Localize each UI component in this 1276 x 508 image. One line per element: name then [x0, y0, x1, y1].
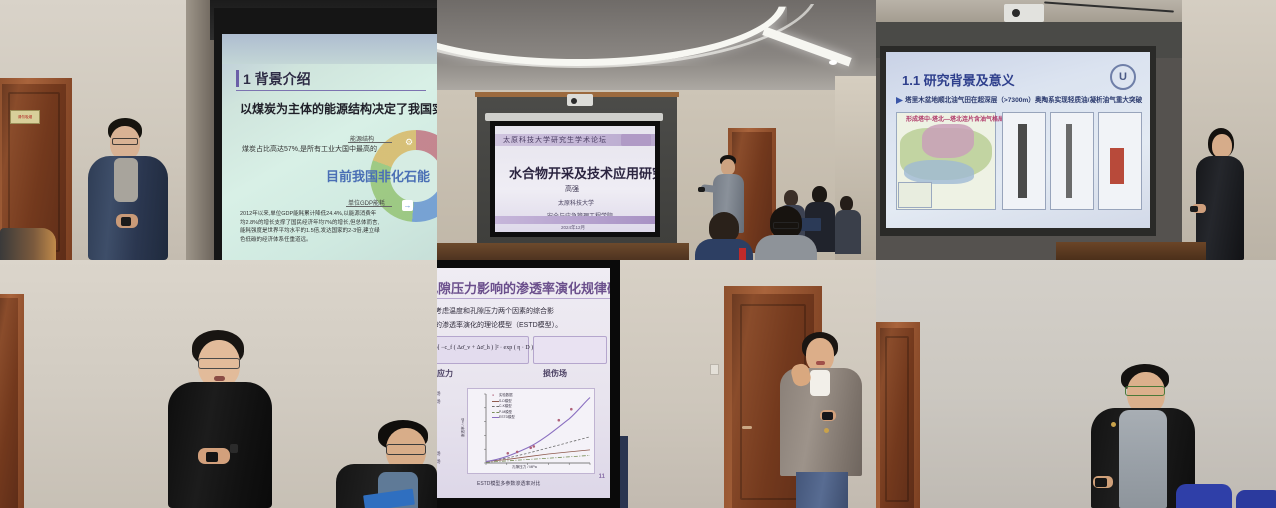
university-logo-letter: U [1119, 71, 1127, 83]
chart-legend: ●实验数据 S-D模型 C-K模型 P-M模型 ESTD模型 [492, 393, 515, 421]
door [0, 298, 18, 508]
formula-label-right: 损伤场 [543, 368, 567, 379]
projection-screen-research: 1.1 研究背景及意义 U 塔里木盆地顺北油气田在超深层（>7300m）奥陶系实… [886, 52, 1150, 228]
slide-heading-bar [236, 70, 239, 87]
torso [755, 235, 817, 260]
blue-chair-2 [1236, 490, 1276, 508]
door-sign-label: 请勿吸烟 [18, 115, 32, 119]
foreground-attendee-left [695, 212, 753, 260]
chart-ylabel: 渗透率 / mD [461, 418, 466, 437]
seated-attendee [336, 420, 437, 508]
door-handle [742, 426, 752, 429]
tag-left-4-label: 损伤场 [437, 459, 441, 465]
tag-left-3-label: 应力场 [437, 451, 441, 457]
legend-item: ESTD模型 [492, 415, 515, 421]
map-inset [898, 182, 932, 208]
legend-label: P-M模型 [499, 410, 512, 414]
slide-banner-logo [621, 134, 651, 146]
slide-line-2: 过程的渗透率演化的理论模型（ESTD模型）。 [437, 320, 562, 330]
screen-edge-right [610, 260, 620, 508]
clicker [206, 452, 218, 462]
projector-lens-icon [1012, 9, 1020, 17]
legend-label: 实验数据 [499, 393, 513, 397]
legend-swatch-solid [492, 401, 499, 402]
well-log-1-trace [1018, 124, 1027, 198]
formula-box-2 [533, 336, 607, 364]
foreground-objects [0, 228, 56, 260]
presenter-navy-jacket [88, 118, 168, 260]
projection-screen-title: 太原科技大学研究生学术论坛 水合物开采及技术应用研究 高强 太原科技大学 安全与… [495, 126, 655, 232]
slide-heading-rule [437, 298, 613, 299]
glasses [112, 138, 138, 145]
slide-line-1: 究，考虑温度和孔隙压力两个因素的综合影 [437, 306, 554, 316]
slide-heading: 孔隙压力影响的渗透率演化规律研究 [437, 278, 613, 297]
light-switch [710, 364, 719, 375]
legend-label: C-K模型 [499, 404, 512, 408]
screen-roller [485, 113, 663, 121]
clicker [822, 412, 833, 420]
clicker [1190, 206, 1198, 212]
foreground-attendee-right [755, 206, 817, 260]
attendee [835, 196, 861, 254]
legend-label: ESTD模型 [499, 415, 515, 419]
panel-presenter-background-intro: 请勿吸烟 1 背景介绍 ⚙ → 以煤炭为主体的能源结构决定了我国实 能源结构 [0, 0, 437, 260]
page-number: 11 [599, 474, 605, 480]
slide-banner-text: 太原科技大学研究生学术论坛 [503, 135, 607, 145]
white-shirt [810, 370, 830, 396]
panel-young-presenter-black-shirt [0, 260, 437, 508]
head [806, 338, 834, 372]
chart-xlabel: 孔隙压力 / MPa [512, 465, 537, 470]
ceiling-downlight [829, 60, 837, 65]
well-log-2 [1050, 112, 1094, 210]
conference-table [437, 243, 689, 260]
slide-author: 高强 [565, 184, 579, 194]
university-logo: U [1110, 64, 1136, 90]
well-log-3-trace [1110, 148, 1124, 184]
head [784, 190, 798, 206]
legend-swatch-estd [492, 417, 499, 418]
head [840, 196, 853, 211]
door-sign: 请勿吸烟 [10, 110, 40, 124]
presenter-black-shirt [160, 330, 280, 508]
legend-swatch-scatter: ● [492, 393, 499, 399]
export-icon: → [402, 200, 413, 211]
torso-black-shirt [168, 382, 272, 508]
wall [876, 260, 1276, 508]
tag-left-2-label: 渗流场 [437, 399, 441, 405]
slide-bullet: 塔里木盆地顺北油气田在超深层（>7300m）奥陶系实现轻质油/凝析油气重大突破 [905, 94, 1142, 104]
slide-highlight: 目前我国非化石能 [326, 166, 430, 185]
slide-heading-underline [236, 90, 426, 91]
podium [1056, 242, 1206, 260]
panel-lecture-hall-wide-shot: 太原科技大学研究生学术论坛 水合物开采及技术应用研究 高强 太原科技大学 安全与… [437, 0, 876, 260]
wristwatch [230, 444, 238, 453]
projection-screen: 1 背景介绍 ⚙ → 以煤炭为主体的能源结构决定了我国实 能源结构 煤炭占比高达… [222, 34, 437, 260]
head [709, 212, 739, 242]
slide-top-band [222, 34, 437, 64]
clicker [121, 217, 131, 226]
panel-female-presenter-tarim-basin: 1.1 研究背景及意义 U 塔里木盆地顺北油气田在超深层（>7300m）奥陶系实… [876, 0, 1276, 260]
jacket-badge [1111, 422, 1116, 427]
callout-1-text: 煤炭占比高达57%,是所有工业大国中最高的 [242, 144, 377, 154]
slide-heading: 1 背景介绍 [243, 69, 311, 89]
slide-background-intro: 1 背景介绍 ⚙ → 以煤炭为主体的能源结构决定了我国实 能源结构 煤炭占比高达… [222, 34, 437, 260]
clicker [1095, 478, 1107, 487]
figure-caption: ESTD模型多参数渗透率对比 [477, 480, 540, 487]
blazer-button [824, 428, 829, 433]
map-region-pink [922, 124, 974, 158]
mouth [214, 376, 225, 381]
slide-formula: k = k₀ exp[ −c_f ( Δσ̄_v + Δσ̄_h ) ]² · … [437, 345, 533, 351]
slide-bottom-strip [495, 216, 655, 224]
torso [835, 210, 861, 254]
slide-heading: 1.1 研究背景及意义 [902, 70, 1015, 89]
head [1212, 134, 1232, 158]
panel-female-presenter-grey-blazer [620, 260, 876, 508]
projection-screen-permeability: 孔隙压力影响的渗透率演化规律研究 究，考虑温度和孔隙压力两个因素的综合影 过程的… [437, 268, 613, 498]
head [721, 159, 735, 175]
slide-body-text: 2012年以来,单位GDP能耗累计降低24.4%,以能源消费年均2.8%的增长支… [240, 210, 380, 244]
clicker [698, 187, 705, 192]
share-icon: ⚙ [405, 137, 413, 148]
grey-sweater [1119, 410, 1167, 508]
shirt-collar [114, 158, 138, 202]
blue-chair-1 [1176, 484, 1232, 508]
slide-permeability: 孔隙压力影响的渗透率演化规律研究 究，考虑温度和孔隙压力两个因素的综合影 过程的… [437, 268, 613, 498]
slide-title-page: 太原科技大学研究生学术论坛 水合物开采及技术应用研究 高强 太原科技大学 安全与… [495, 126, 655, 232]
slide-research-background: 1.1 研究背景及意义 U 塔里木盆地顺北油气田在超深层（>7300m）奥陶系实… [886, 52, 1150, 228]
jeans [796, 472, 848, 508]
slide-affiliation-1: 太原科技大学 [558, 198, 594, 207]
glasses [773, 222, 799, 229]
head [812, 186, 827, 203]
glasses [1125, 386, 1165, 396]
slide-footer: 2024年12月 [561, 225, 585, 231]
glasses [198, 358, 240, 369]
map-region-blue [904, 160, 974, 184]
legend-label: S-D模型 [499, 399, 512, 403]
tag-left-1-label: 温度场 [437, 391, 441, 397]
ceiling-projector [1004, 4, 1044, 22]
panel-male-presenter-dark-parka [876, 260, 1276, 508]
presenter-grey-blazer [772, 332, 864, 508]
callout-2-leader [346, 206, 392, 207]
edge-object-left [620, 436, 628, 508]
door-panel [885, 336, 909, 502]
permeability-chart: ●实验数据 S-D模型 C-K模型 P-M模型 ESTD模型 孔隙压力 / MP… [467, 388, 595, 474]
formula-label-left: 有效应力 [437, 368, 453, 379]
slide-subheading: 以煤炭为主体的能源结构决定了我国实 [240, 100, 437, 117]
projector-lens-icon [571, 98, 577, 104]
chart-svg [468, 389, 596, 475]
bullet-marker-icon [896, 97, 903, 104]
mouth [816, 361, 825, 365]
photo-collage: 请勿吸烟 1 背景介绍 ⚙ → 以煤炭为主体的能源结构决定了我国实 能源结构 [0, 0, 1276, 508]
presenter-black-coat [1194, 128, 1246, 260]
callout-1-leader [348, 142, 392, 143]
well-log-2-trace [1066, 124, 1072, 198]
glasses [386, 444, 426, 455]
slide-title: 水合物开采及技术应用研究 [509, 163, 655, 182]
legend-swatch-dashed [492, 406, 499, 407]
panel-permeability-evolution-slide: 孔隙压力影响的渗透率演化规律研究 究，考虑温度和孔隙压力两个因素的综合影 过程的… [437, 260, 620, 508]
lanyard [739, 248, 746, 260]
legend-swatch-dashdot [492, 412, 499, 413]
figure-caption: 形成塔中-塔北—塔北连片含油气格局 [906, 114, 1004, 123]
